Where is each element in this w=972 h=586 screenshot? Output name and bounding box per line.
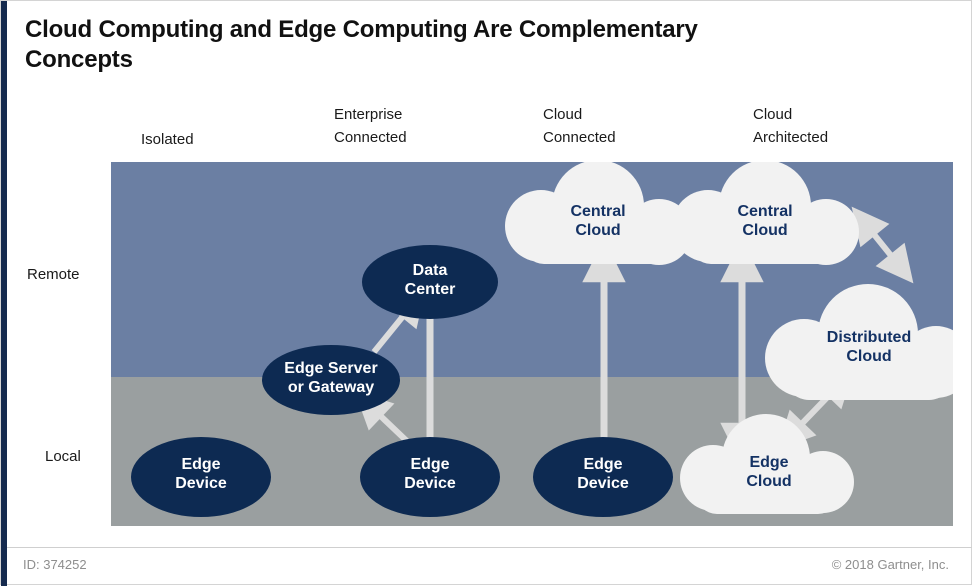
column-header-enterprise-connected: Enterprise Connected <box>334 104 407 149</box>
node-ca-edge-cloud <box>680 414 854 514</box>
arrow-ent-device-to-gateway <box>369 405 411 445</box>
node-cc-edge-device <box>533 437 673 517</box>
left-accent-bar <box>1 1 7 586</box>
node-ent-data-center <box>362 245 498 319</box>
footer-divider <box>7 547 972 548</box>
node-isolated-edge-device <box>131 437 271 517</box>
diagram-shapes <box>111 162 953 526</box>
page-title: Cloud Computing and Edge Computing Are C… <box>25 15 785 75</box>
slide-frame: Cloud Computing and Edge Computing Are C… <box>0 0 972 585</box>
node-ent-edge-server <box>262 345 400 415</box>
row-label-remote: Remote <box>27 266 80 283</box>
node-ca-central-cloud <box>672 162 859 265</box>
column-header-isolated: Isolated <box>141 129 194 152</box>
column-header-cloud-connected: Cloud Connected <box>543 104 616 149</box>
node-cc-central-cloud <box>505 162 692 265</box>
arrow-ca-central-to-distributed <box>864 222 901 268</box>
diagram-canvas: Edge Device Edge Device Edge Device Edge… <box>111 162 953 526</box>
node-ent-edge-device <box>360 437 500 517</box>
footer-copyright: © 2018 Gartner, Inc. <box>832 557 949 572</box>
footer-id: ID: 374252 <box>23 557 87 572</box>
node-ca-distributed-cloud <box>765 284 953 400</box>
row-label-local: Local <box>45 448 81 465</box>
column-header-cloud-architected: Cloud Architected <box>753 104 828 149</box>
